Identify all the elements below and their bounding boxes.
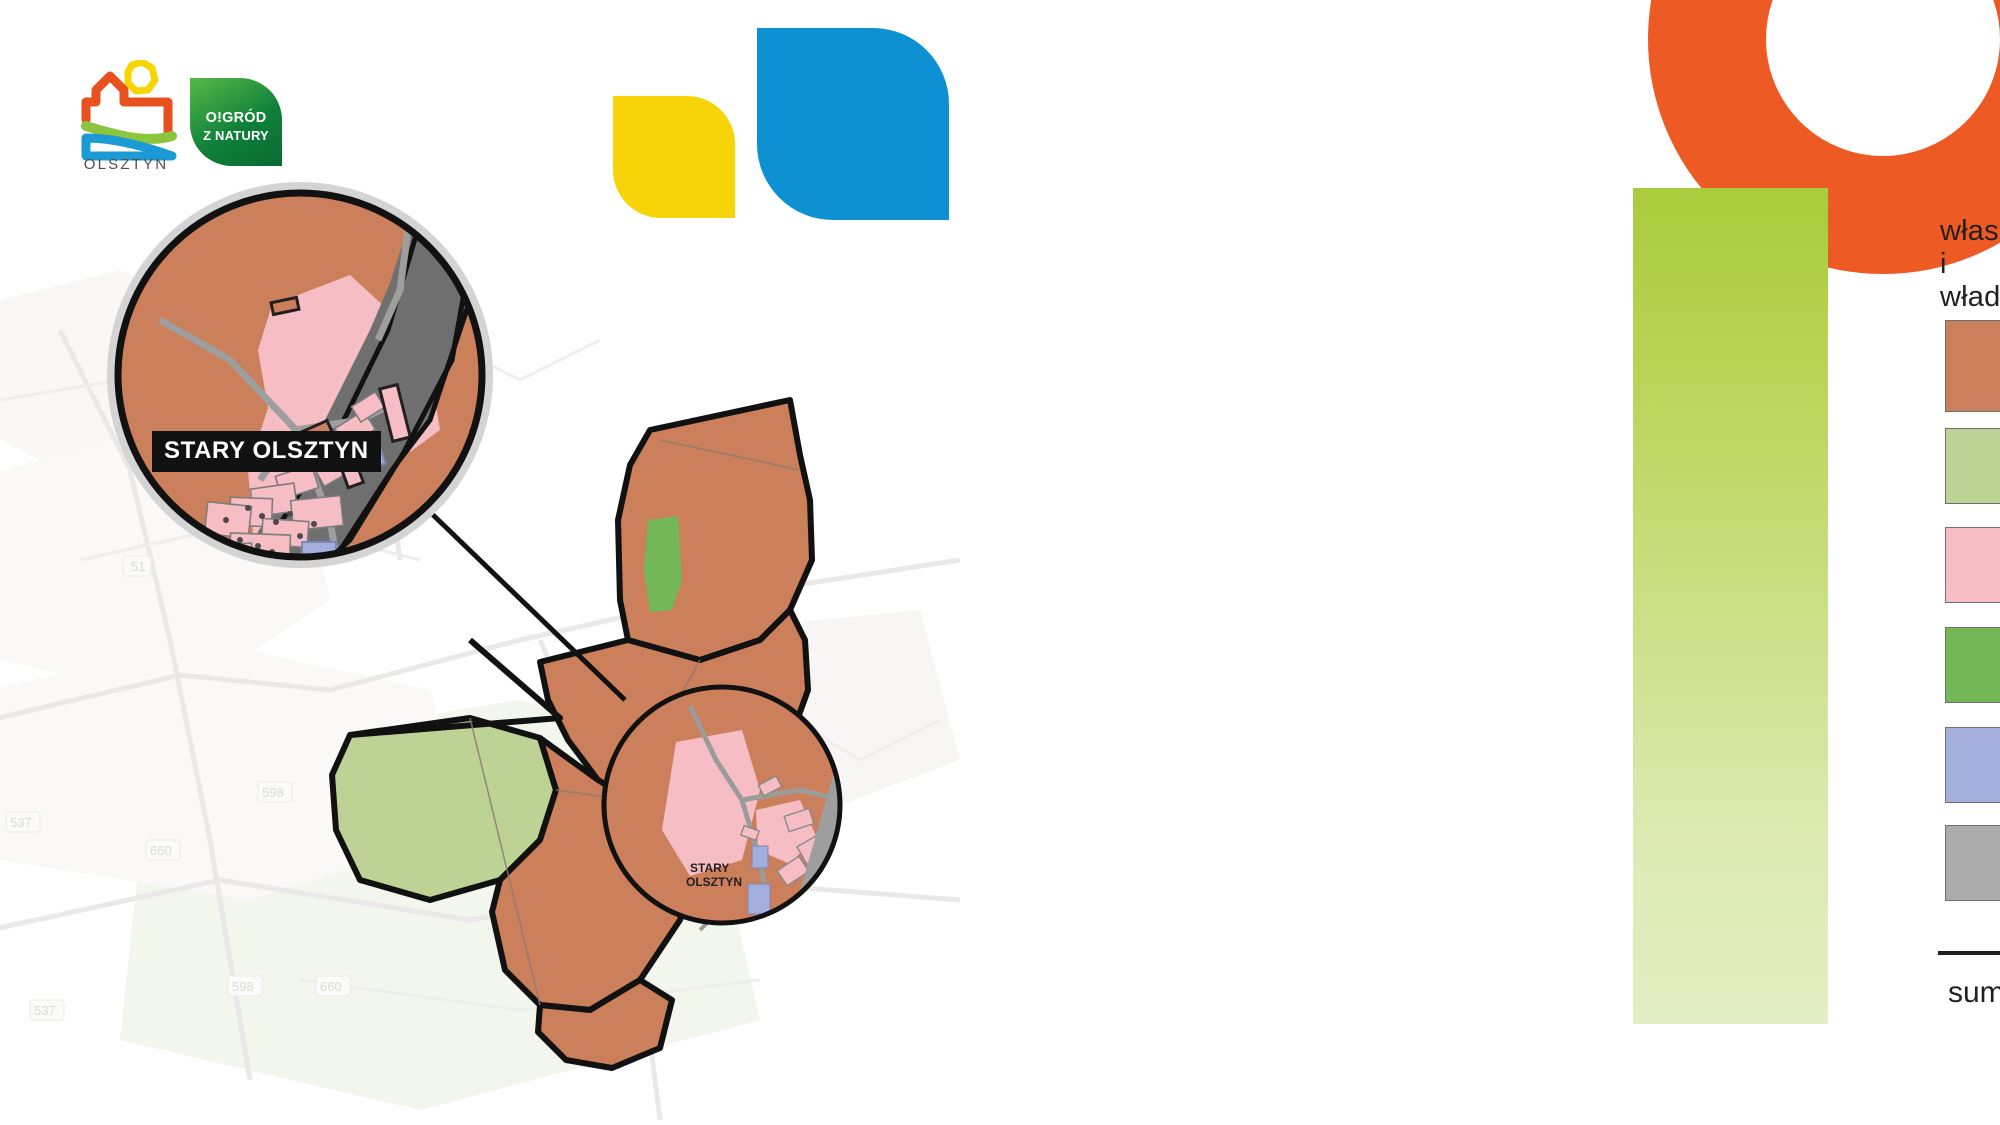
ogrod-logo-line1: O!GRÓD xyxy=(190,110,282,126)
map-small-label-line2: OLSZTYN xyxy=(686,875,742,889)
svg-text:598: 598 xyxy=(232,979,254,994)
table-sum-label: suma: xyxy=(1948,976,2000,1010)
svg-text:598: 598 xyxy=(262,785,284,800)
ownership-table: własność i władanie powierzchnia % teren… xyxy=(960,0,2000,1125)
legend-swatch xyxy=(1945,727,2000,803)
olsztyn-logo-text: OLSZTYN xyxy=(70,156,182,173)
ogrod-z-natury-logo: O!GRÓD Z NATURY xyxy=(190,78,282,166)
legend-swatch xyxy=(1945,527,2000,603)
ogrod-logo-line2: Z NATURY xyxy=(190,128,282,143)
logo-block: OLSZTYN O!GRÓD Z NATURY xyxy=(72,60,282,180)
decor-yellow-leaf xyxy=(613,96,735,218)
legend-swatch xyxy=(1945,825,2000,901)
svg-text:51: 51 xyxy=(131,559,145,574)
legend-swatch xyxy=(1945,428,2000,504)
decor-blue-leaf xyxy=(757,28,949,220)
svg-text:660: 660 xyxy=(320,979,342,994)
table-sum-divider xyxy=(1938,951,2000,955)
table-header-ownership: własność i władanie xyxy=(1940,215,2000,314)
legend-swatch xyxy=(1945,627,2000,703)
svg-text:660: 660 xyxy=(150,843,172,858)
legend-swatch xyxy=(1945,320,2000,412)
map-label-stary-olsztyn: STARY OLSZTYN xyxy=(152,431,381,472)
svg-text:537: 537 xyxy=(10,815,32,830)
map-small-label-line1: STARY xyxy=(690,861,729,875)
svg-text:537: 537 xyxy=(34,1003,56,1018)
